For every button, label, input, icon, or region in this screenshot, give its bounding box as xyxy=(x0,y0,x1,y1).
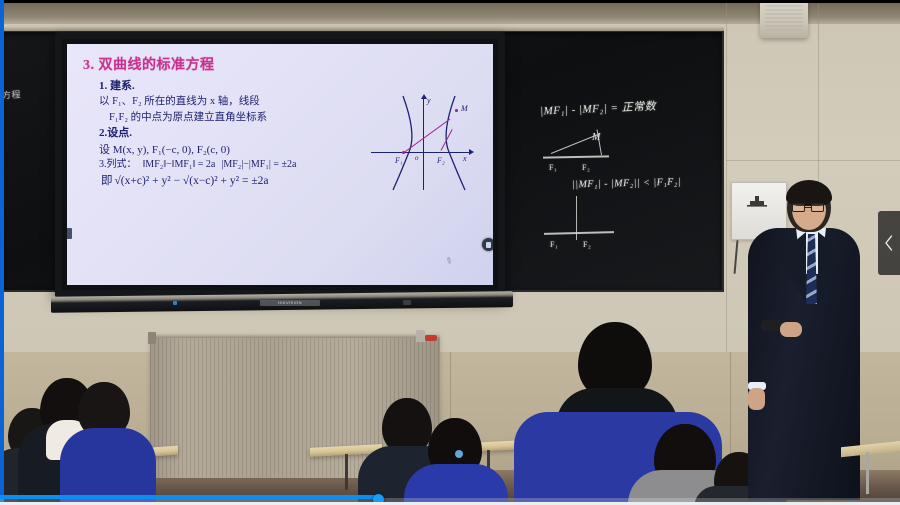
figure-m-label: M xyxy=(461,104,468,113)
side-desk-leg xyxy=(866,452,869,494)
figure-y-label: y xyxy=(427,96,431,105)
slide-line-1: 1. 建系. xyxy=(99,78,483,94)
wall-seam xyxy=(726,160,900,161)
slide-formula-c: √(x+c)² + y² − √(x−c)² + y² = ±2a xyxy=(115,173,269,190)
wall-unit-icon xyxy=(746,195,768,211)
classroom-scene: |MF₁| - |MF₂| = 正常数 M F₁ F₂ ||MF₁| - |MF… xyxy=(0,0,900,505)
left-accent-strip xyxy=(0,0,4,505)
smart-board-brand: HIKVISION xyxy=(260,300,320,306)
blackboard-top-rail xyxy=(0,26,724,31)
smart-board[interactable]: 3. 双曲线的标准方程 1. 建系. 以 F₁、F₂ 所在的直线为 x 轴，线段… xyxy=(55,32,505,297)
figure-y-axis xyxy=(423,96,424,190)
slide-formula-b: |MF₂|−|MF₁| = ±2a xyxy=(221,158,296,173)
teacher-hand xyxy=(748,388,765,410)
red-marker xyxy=(425,335,437,341)
collapse-panel-button[interactable] xyxy=(878,211,900,275)
slide-title: 3. 双曲线的标准方程 xyxy=(83,54,483,74)
slide-side-tab-icon[interactable] xyxy=(67,228,72,239)
video-progress-fill xyxy=(0,495,378,499)
figure-x-label: x xyxy=(463,154,467,163)
smart-board-port-icon xyxy=(403,300,411,305)
figure-dot-f1 xyxy=(402,151,405,154)
figure-dot-m xyxy=(455,109,458,112)
presentation-slide: 3. 双曲线的标准方程 1. 建系. 以 F₁、F₂ 所在的直线为 x 轴，线段… xyxy=(67,44,493,285)
slide-toolbar-icon[interactable] xyxy=(482,238,493,251)
slide-line-6-label: 3.列式： xyxy=(99,158,137,173)
figure-f1-label: F₁ xyxy=(395,156,403,165)
wall-seam xyxy=(726,0,727,352)
hair-tie xyxy=(455,450,463,458)
chevron-left-icon xyxy=(884,235,894,251)
figure-x-axis xyxy=(371,152,471,153)
hyperbola-figure: y x o F₁ F₂ M xyxy=(371,94,475,194)
podium-marker-holder xyxy=(416,330,425,342)
top-letterbox xyxy=(0,0,900,3)
desk-leg xyxy=(345,454,348,490)
figure-x-arrow xyxy=(469,149,474,155)
figure-origin-label: o xyxy=(415,154,419,162)
wall-speaker-icon xyxy=(760,0,808,38)
teacher-hand xyxy=(780,322,802,337)
pen-icon: ✎ xyxy=(443,255,455,268)
video-player[interactable]: |MF₁| - |MF₂| = 正常数 M F₁ F₂ ||MF₁| - |MF… xyxy=(0,0,900,505)
figure-y-arrow xyxy=(421,94,427,99)
power-led-icon xyxy=(173,301,177,305)
figure-f2-label: F₂ xyxy=(437,156,445,165)
slide-line-7-label: 即 xyxy=(101,173,113,190)
podium-clip xyxy=(148,332,156,344)
speaker-grill xyxy=(765,5,803,30)
glasses-icon xyxy=(792,203,825,212)
slide-formula-a: ‖MF₂‖−‖MF₁‖ = 2a xyxy=(143,158,216,173)
